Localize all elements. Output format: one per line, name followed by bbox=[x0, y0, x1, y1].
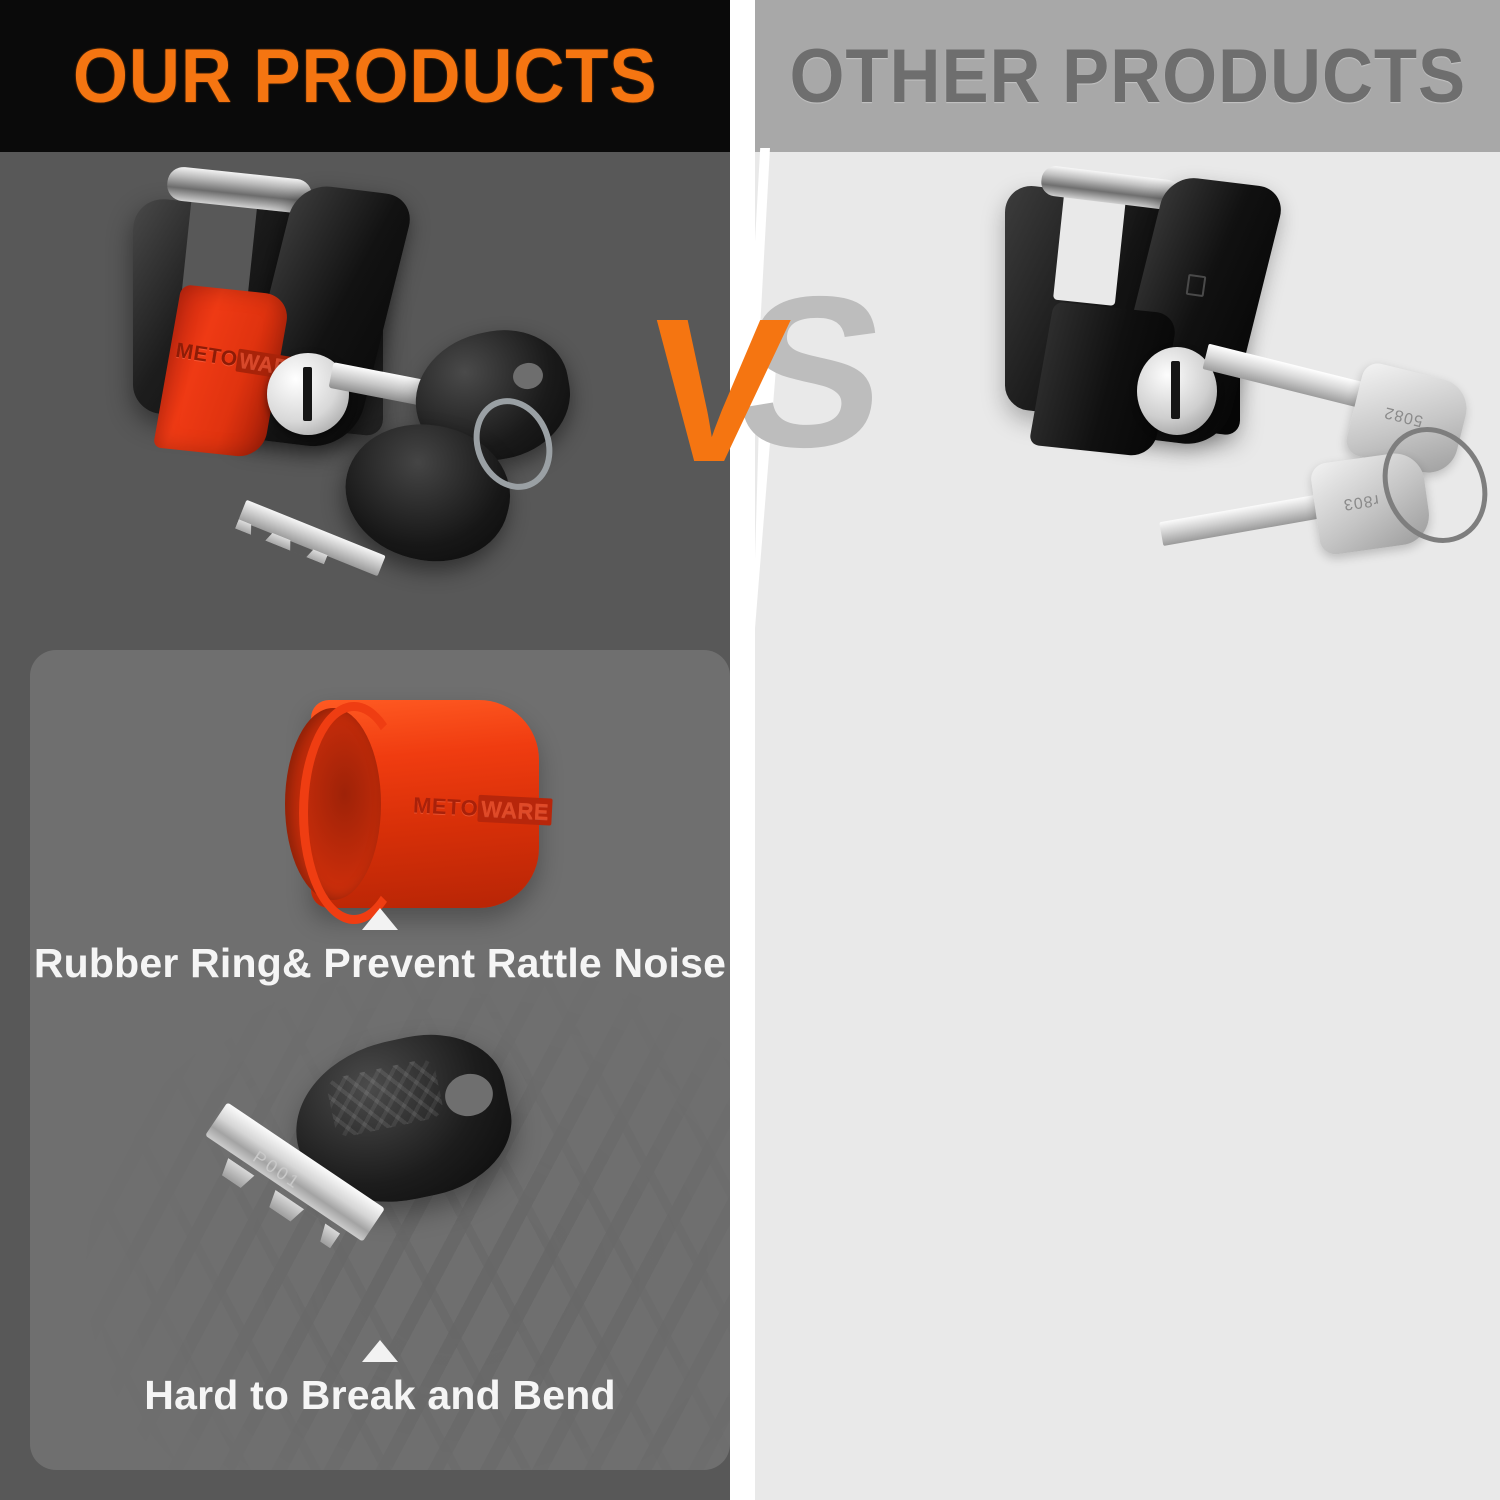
rubber-ring-lip bbox=[299, 702, 409, 924]
our-products-title: OUR PRODUCTS bbox=[73, 33, 657, 120]
our-feature1-caption: Rubber Ring& Prevent Rattle Noise bbox=[30, 940, 730, 987]
comparison-infographic: OUR PRODUCTS METOWARE bbox=[0, 0, 1500, 1500]
versus-letter-v: V bbox=[637, 288, 795, 493]
our-product-hero-image: METOWARE bbox=[0, 152, 730, 642]
padlock-stamp-icon bbox=[1186, 274, 1207, 297]
key-code-1: 5082 bbox=[1382, 402, 1425, 429]
versus-badge: S V bbox=[648, 268, 878, 538]
our-key-illustration: P001 bbox=[190, 1040, 520, 1370]
our-feature2-caption: Hard to Break and Bend bbox=[30, 1372, 730, 1419]
key-code-2: r803 bbox=[1342, 490, 1380, 513]
our-padlock-illustration: METOWARE bbox=[115, 167, 575, 637]
our-products-column: OUR PRODUCTS METOWARE bbox=[0, 0, 730, 1500]
other-products-column: OTHER PRODUCTS 5082 r803 bbox=[755, 0, 1500, 1500]
red-rubber-ring-illustration: METOWARE bbox=[285, 700, 540, 915]
other-products-title: OTHER PRODUCTS bbox=[789, 33, 1466, 120]
up-arrow-icon bbox=[362, 908, 398, 930]
up-arrow-icon bbox=[362, 1340, 398, 1362]
second-key-blade bbox=[1159, 492, 1336, 546]
ring-brand-back: WARE bbox=[477, 795, 552, 826]
our-feature2-caption-block: Hard to Break and Bend bbox=[30, 1340, 730, 1419]
our-feature1-caption-block: Rubber Ring& Prevent Rattle Noise bbox=[30, 908, 730, 987]
our-features-card: METOWARE Rubber Ring& Prevent Rattle Noi… bbox=[30, 650, 730, 1470]
other-products-header: OTHER PRODUCTS bbox=[755, 0, 1500, 152]
our-products-header: OUR PRODUCTS bbox=[0, 0, 730, 152]
ring-brand-front: METO bbox=[412, 792, 478, 820]
other-padlock-illustration: 5082 r803 bbox=[985, 157, 1485, 637]
